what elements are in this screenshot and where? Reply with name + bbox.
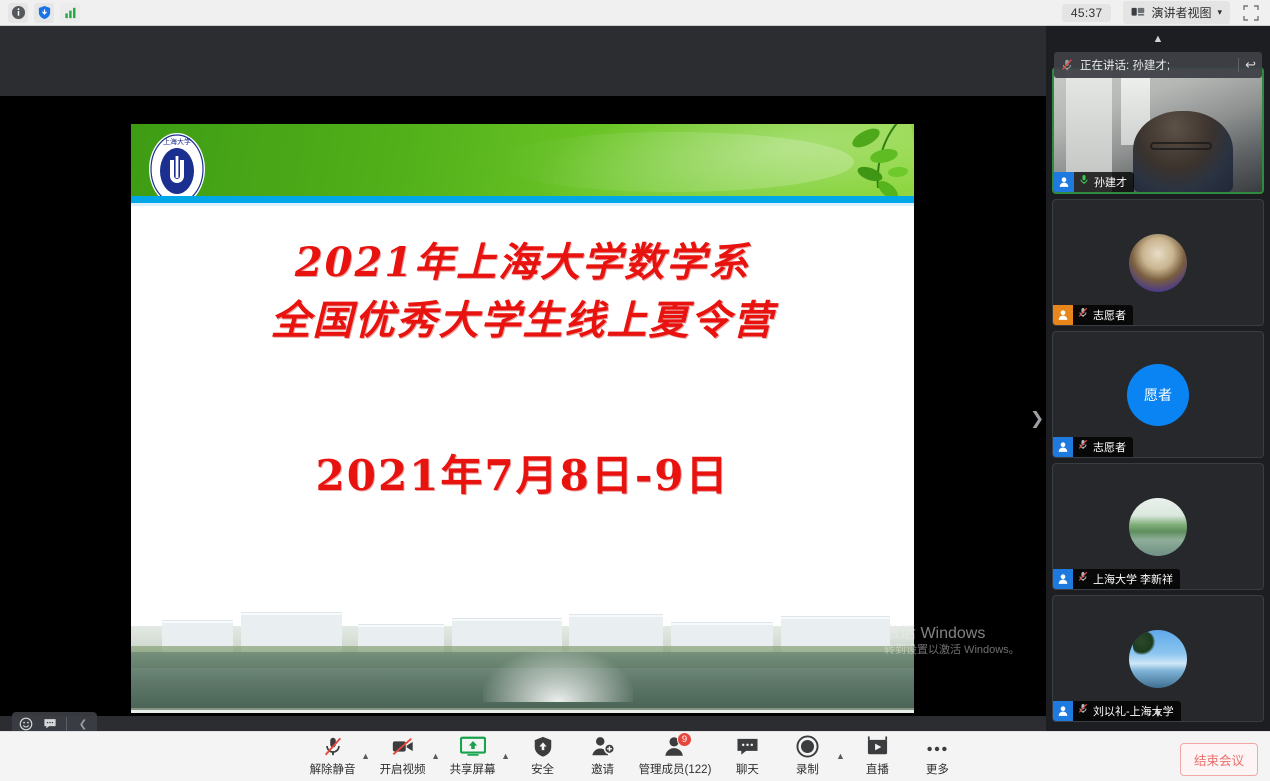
shanghai-university-logo: 上海大学 SHANGHAI UNIVERSITY	[146, 130, 208, 196]
participant-name-badge: 孙建才	[1054, 172, 1134, 192]
participant-name: 孙建才	[1094, 174, 1127, 190]
record-button[interactable]: 录制	[777, 734, 837, 777]
participant-tile[interactable]: 志愿者	[1052, 199, 1264, 326]
participant-name-badge: 志愿者	[1053, 437, 1133, 457]
more-button[interactable]: 更多	[907, 734, 967, 777]
back-arrow-icon[interactable]: ↩	[1245, 57, 1256, 73]
campus-fountain	[483, 650, 633, 702]
invite-button[interactable]: 邀请	[573, 734, 633, 777]
zoom-meeting-window: 45:37 演讲者视图 ▾	[0, 0, 1270, 781]
top-bar-left-icons	[0, 3, 80, 23]
video-off-icon	[391, 734, 415, 758]
participants-badge: 9	[677, 732, 692, 747]
end-meeting-button[interactable]: 结束会议	[1180, 743, 1258, 776]
participant-tile[interactable]: 愿者 志愿者	[1052, 331, 1264, 458]
active-speaker-text: 正在讲话: 孙建才;	[1080, 57, 1170, 73]
share-screen-label: 共享屏幕	[450, 761, 496, 777]
invite-person-icon	[591, 734, 615, 758]
mic-muted-icon	[322, 734, 344, 758]
mic-on-icon	[1078, 173, 1090, 191]
participant-avatar-icon	[1053, 569, 1073, 589]
video-person-glasses	[1150, 142, 1212, 151]
toolbar-divider	[66, 717, 67, 731]
shared-slide: 上海大学 SHANGHAI UNIVERSITY 2021年上海大学数学系 全国…	[131, 124, 914, 713]
meeting-timer: 45:37	[1062, 4, 1112, 22]
slide-title-line-1: 2021年上海大学数学系	[131, 234, 914, 292]
shared-screen-stage: 上海大学 SHANGHAI UNIVERSITY 2021年上海大学数学系 全国…	[0, 26, 1046, 731]
participant-avatar-image	[1129, 630, 1187, 688]
leaf-decoration-icon	[780, 124, 910, 196]
speaker-view-icon	[1131, 7, 1145, 19]
banner-divider	[1238, 58, 1239, 72]
unmute-label: 解除静音	[310, 761, 356, 777]
toolbar-items: 解除静音 ▲ 开启视频 ▲ 共享屏幕 ▲ 安全	[303, 734, 968, 780]
manage-participants-label: 管理成员(122)	[639, 761, 712, 777]
share-screen-icon	[460, 734, 486, 758]
participant-tile[interactable]: 上海大学 李新祥	[1052, 463, 1264, 590]
security-button[interactable]: 安全	[513, 734, 573, 777]
campus-panorama-photo	[131, 586, 914, 713]
manage-participants-button[interactable]: 9 管理成员(122)	[633, 734, 718, 777]
window-top-bar: 45:37 演讲者视图 ▾	[0, 0, 1270, 26]
chevron-down-icon[interactable]: ▾	[1217, 7, 1222, 18]
participant-avatar-icon	[1053, 305, 1073, 325]
record-label: 录制	[796, 761, 819, 777]
video-person-silhouette	[1133, 111, 1233, 192]
filmstrip-scroll-down[interactable]: ▼	[1046, 701, 1270, 727]
more-label: 更多	[926, 761, 949, 777]
slide-banner: 上海大学 SHANGHAI UNIVERSITY	[131, 124, 914, 196]
chat-button[interactable]: 聊天	[717, 734, 777, 777]
mic-muted-icon	[1077, 438, 1089, 456]
slide-title: 2021年上海大学数学系 全国优秀大学生线上夏令营	[131, 234, 914, 350]
invite-label: 邀请	[591, 761, 614, 777]
top-bar-right-controls: 45:37 演讲者视图 ▾	[1062, 1, 1270, 24]
campus-bottom-band	[131, 710, 914, 713]
participant-name: 上海大学 李新祥	[1093, 571, 1173, 587]
unmute-button[interactable]: 解除静音	[303, 734, 363, 777]
share-screen-button[interactable]: 共享屏幕	[443, 734, 503, 777]
live-stream-label: 直播	[866, 761, 889, 777]
participant-name-badge: 志愿者	[1053, 305, 1133, 325]
participant-tile[interactable]: 孙建才	[1052, 67, 1264, 194]
participant-avatar-image	[1129, 234, 1187, 292]
live-stream-button[interactable]: 直播	[847, 734, 907, 777]
mic-muted-icon	[1077, 306, 1089, 324]
participant-initials-avatar: 愿者	[1127, 364, 1189, 426]
active-speaker-banner: 正在讲话: 孙建才; ↩	[1054, 52, 1262, 78]
mic-muted-icon	[1060, 58, 1074, 72]
record-icon	[796, 734, 819, 758]
filmstrip-scroll-up[interactable]: ▲	[1046, 26, 1270, 52]
slide-title-line-2: 全国优秀大学生线上夏令营	[131, 292, 914, 350]
participant-name-badge: 上海大学 李新祥	[1053, 569, 1180, 589]
start-video-label: 开启视频	[380, 761, 426, 777]
expand-panel-right-icon[interactable]: ❯	[1030, 409, 1044, 429]
participant-avatar-image	[1129, 498, 1187, 556]
live-stream-icon	[866, 734, 889, 758]
info-icon[interactable]	[8, 3, 28, 23]
slide-banner-stripe	[131, 196, 914, 203]
participant-name: 志愿者	[1093, 307, 1126, 323]
network-bars-icon[interactable]	[60, 3, 80, 23]
participant-tile-list: 孙建才 志愿者 愿者	[1046, 62, 1270, 722]
start-video-button[interactable]: 开启视频	[373, 734, 433, 777]
fullscreen-button[interactable]	[1242, 4, 1260, 22]
view-mode-selector[interactable]: 演讲者视图 ▾	[1123, 1, 1230, 24]
mic-muted-icon	[1077, 570, 1089, 588]
svg-text:上海大学: 上海大学	[163, 137, 191, 146]
participant-name: 志愿者	[1093, 439, 1126, 455]
chat-label: 聊天	[736, 761, 759, 777]
security-shield-icon	[532, 734, 554, 758]
participants-filmstrip: ▲ 正在讲话: 孙建才; ↩	[1046, 26, 1270, 731]
shield-icon[interactable]	[34, 3, 54, 23]
participant-avatar-icon	[1053, 437, 1073, 457]
slide-date: 2021年7月8日-9日	[131, 442, 914, 503]
slide-body: 2021年上海大学数学系 全国优秀大学生线上夏令营 2021年7月8日-9日	[131, 206, 914, 713]
meeting-controls-toolbar: 解除静音 ▲ 开启视频 ▲ 共享屏幕 ▲ 安全	[0, 731, 1270, 781]
participant-avatar-icon	[1054, 172, 1074, 192]
security-label: 安全	[531, 761, 554, 777]
view-mode-label: 演讲者视图	[1151, 4, 1211, 21]
more-ellipsis-icon	[925, 734, 949, 758]
chat-icon	[736, 734, 759, 758]
